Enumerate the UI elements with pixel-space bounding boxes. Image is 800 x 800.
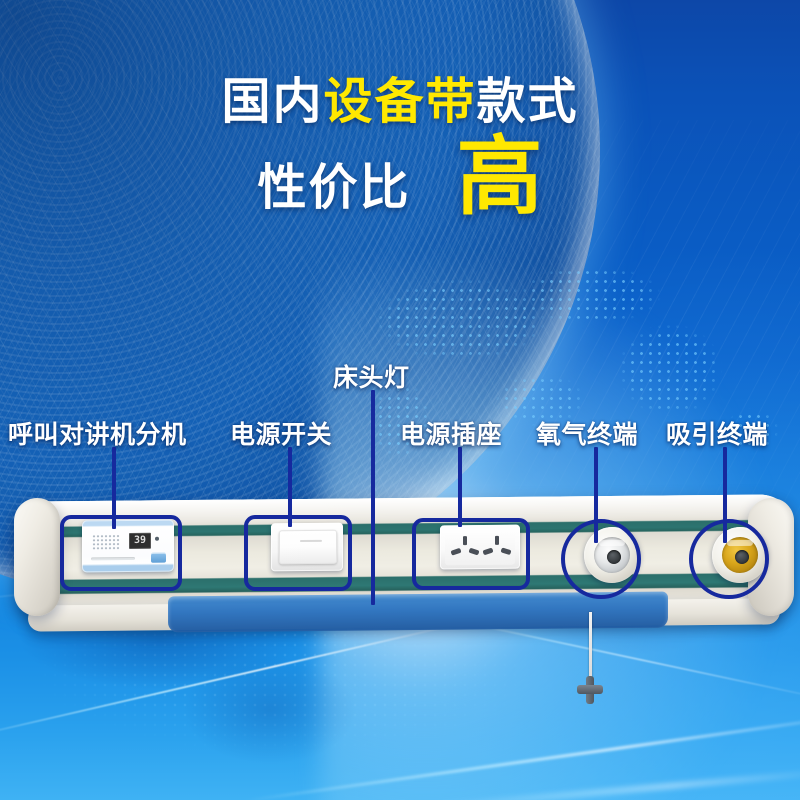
terminal-port-icon <box>735 550 749 564</box>
suction-terminal-unit[interactable] <box>712 527 768 584</box>
terminal-marking <box>599 540 625 546</box>
headline-text-domestic: 国内 <box>221 75 323 129</box>
call-intercom-unit[interactable]: 39 <box>82 520 174 573</box>
cord-weight-horizontal <box>577 685 603 694</box>
callout-label-intercom: 呼叫对讲机分机 <box>8 415 187 451</box>
callout-label-power-switch: 电源开关 <box>230 415 332 451</box>
leader-line-oxygen <box>594 447 598 543</box>
leader-line-intercom <box>112 447 116 529</box>
leader-line-bedside-lamp <box>371 390 375 605</box>
terminal-marking <box>727 540 753 546</box>
socket-pin-icon <box>482 547 493 555</box>
outlet-faceplate <box>445 529 515 566</box>
headline-block: 国内设备带款式 性价比 高 <box>0 78 800 222</box>
outlet-socket-left[interactable] <box>450 536 480 560</box>
terminal-port-icon <box>607 550 621 564</box>
status-led-icon <box>155 537 159 541</box>
unit-endcap-left <box>14 498 60 616</box>
headline-text-equipment-belt: 设备带 <box>323 75 476 129</box>
callout-label-oxygen: 氧气终端 <box>536 415 638 451</box>
leader-line-power-switch <box>288 447 292 527</box>
switch-rocker[interactable] <box>279 530 337 565</box>
banner-canvas: 国内设备带款式 性价比 高 呼叫对讲机分机 电源开关 床头灯 电源插座 氧气终端… <box>0 0 800 800</box>
switch-indicator-line <box>300 540 322 542</box>
unit-blue-channel <box>168 592 668 633</box>
callout-label-bedside-lamp: 床头灯 <box>333 358 410 394</box>
socket-pin-icon <box>500 547 511 555</box>
leader-line-power-socket <box>458 447 462 527</box>
oxygen-terminal-unit[interactable] <box>584 527 640 584</box>
intercom-display: 39 <box>129 533 151 549</box>
callout-label-power-socket: 电源插座 <box>400 415 502 451</box>
headline-text-value-ratio: 性价比 <box>257 148 410 219</box>
socket-pin-icon <box>463 536 467 545</box>
power-outlet-unit[interactable] <box>440 525 520 570</box>
intercom-slot <box>91 557 135 560</box>
headline-line-2: 性价比 高 <box>0 145 800 222</box>
socket-pin-icon <box>468 548 479 556</box>
light-switch-unit[interactable] <box>271 523 343 572</box>
speaker-grille-icon <box>92 534 120 550</box>
headline-text-style: 款式 <box>477 75 579 129</box>
socket-pin-icon <box>450 548 461 556</box>
outlet-socket-right[interactable] <box>482 536 512 560</box>
socket-pin-icon <box>495 536 499 545</box>
leader-line-suction <box>723 447 727 543</box>
bed-head-unit: 39 <box>18 498 790 630</box>
intercom-call-button[interactable] <box>151 553 166 563</box>
terminal-inner-face <box>594 537 630 573</box>
headline-line-1: 国内设备带款式 <box>0 78 800 127</box>
bedside-lamp-pull-cord[interactable] <box>589 612 592 682</box>
terminal-inner-face <box>722 537 758 573</box>
callout-label-suction: 吸引终端 <box>666 415 768 451</box>
headline-text-high: 高 <box>457 139 543 216</box>
pull-cord-weight[interactable] <box>577 676 603 704</box>
